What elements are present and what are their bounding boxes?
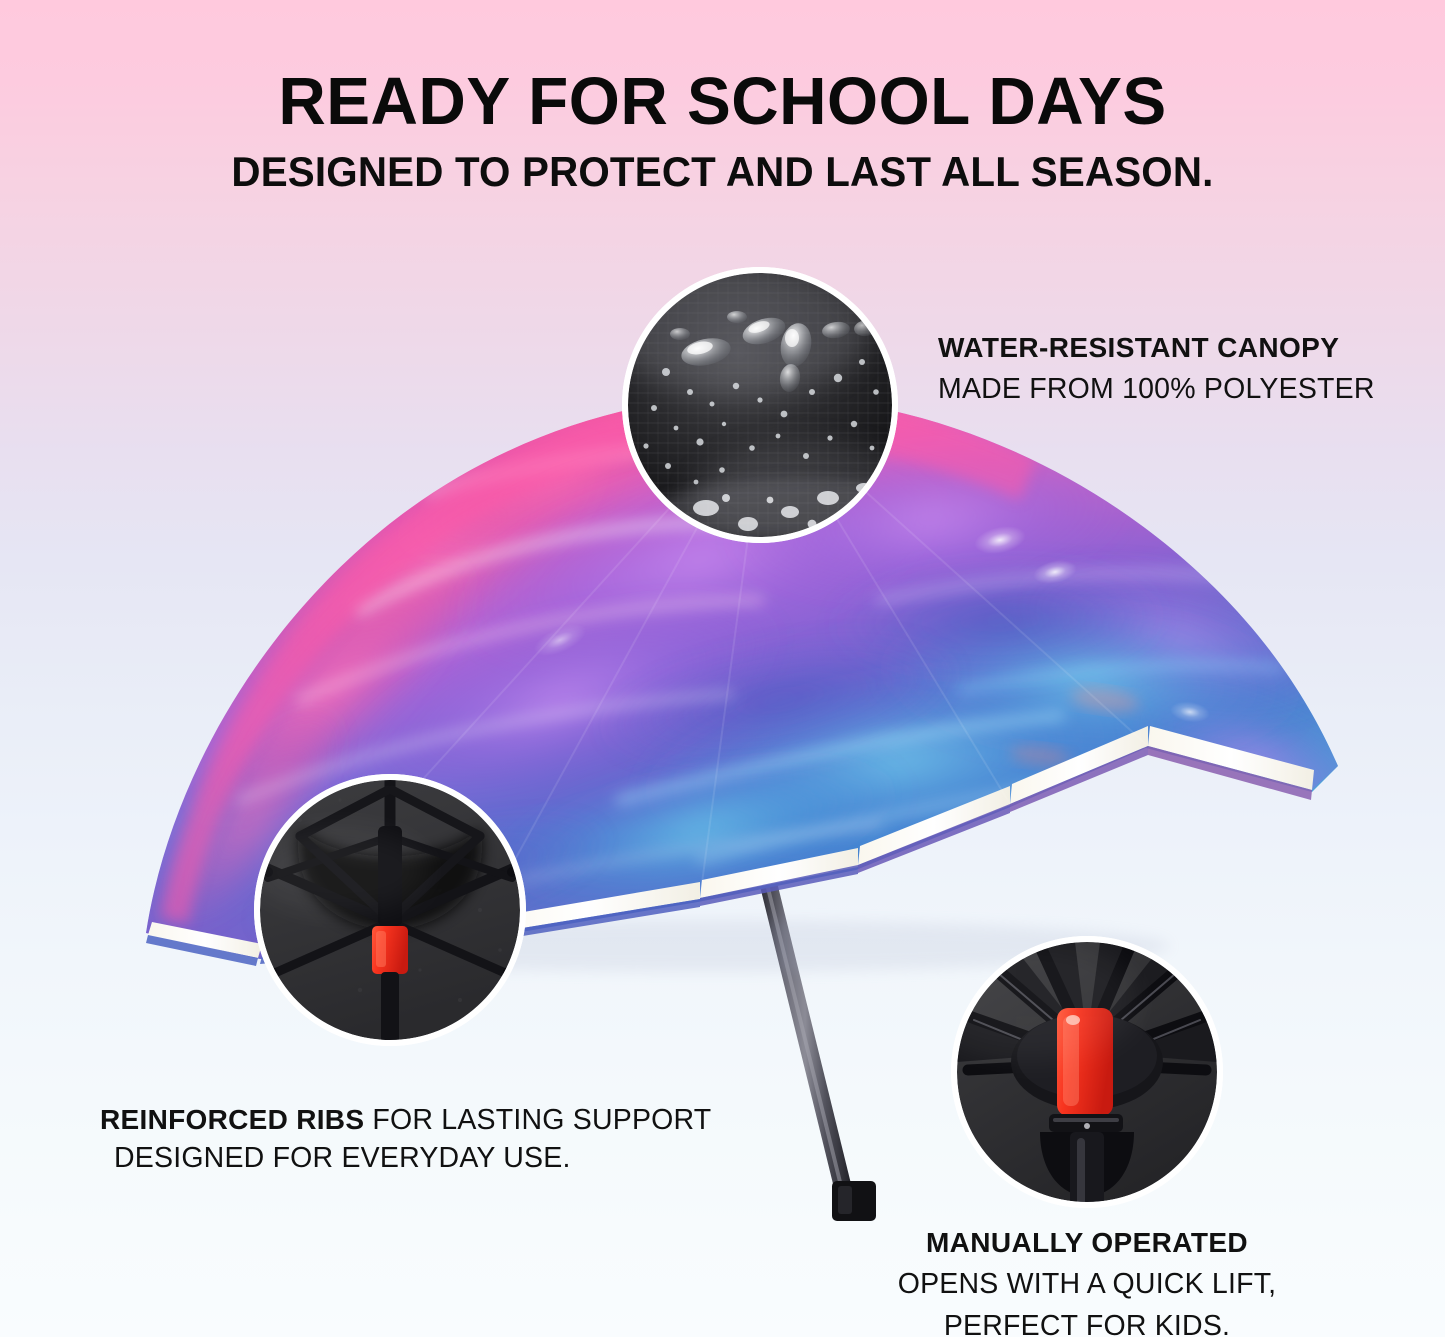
umbrella-handle-grip [832, 1181, 876, 1221]
callout-ribs-line1-rest: FOR LASTING SUPPORT [364, 1104, 711, 1136]
callout-canopy-title: WATER-RESISTANT CANOPY [938, 330, 1375, 366]
callout-canopy-description: MADE FROM 100% POLYESTER [938, 371, 1375, 408]
callout-ribs-line2: DESIGNED FOR EVERYDAY USE. [114, 1142, 711, 1175]
inset-manual-slider [920, 936, 1223, 1212]
product-infographic: READY FOR SCHOOL DAYS DESIGNED TO PROTEC… [0, 0, 1445, 1337]
callout-reinforced-ribs: REINFORCED RIBS FOR LASTING SUPPORT DESI… [100, 1104, 711, 1175]
callout-manually-operated: MANUALLY OPERATED OPENS WITH A QUICK LIF… [898, 1225, 1277, 1337]
callout-manual-line2: PERFECT FOR KIDS. [898, 1308, 1277, 1337]
callout-water-resistant-canopy: WATER-RESISTANT CANOPY MADE FROM 100% PO… [938, 330, 1375, 408]
callout-manual-line1: OPENS WITH A QUICK LIFT, [898, 1266, 1277, 1303]
callout-ribs-title: REINFORCED RIBS [100, 1104, 364, 1135]
callout-manual-title: MANUALLY OPERATED [898, 1225, 1277, 1261]
callout-ribs-line1: REINFORCED RIBS FOR LASTING SUPPORT [100, 1104, 711, 1137]
